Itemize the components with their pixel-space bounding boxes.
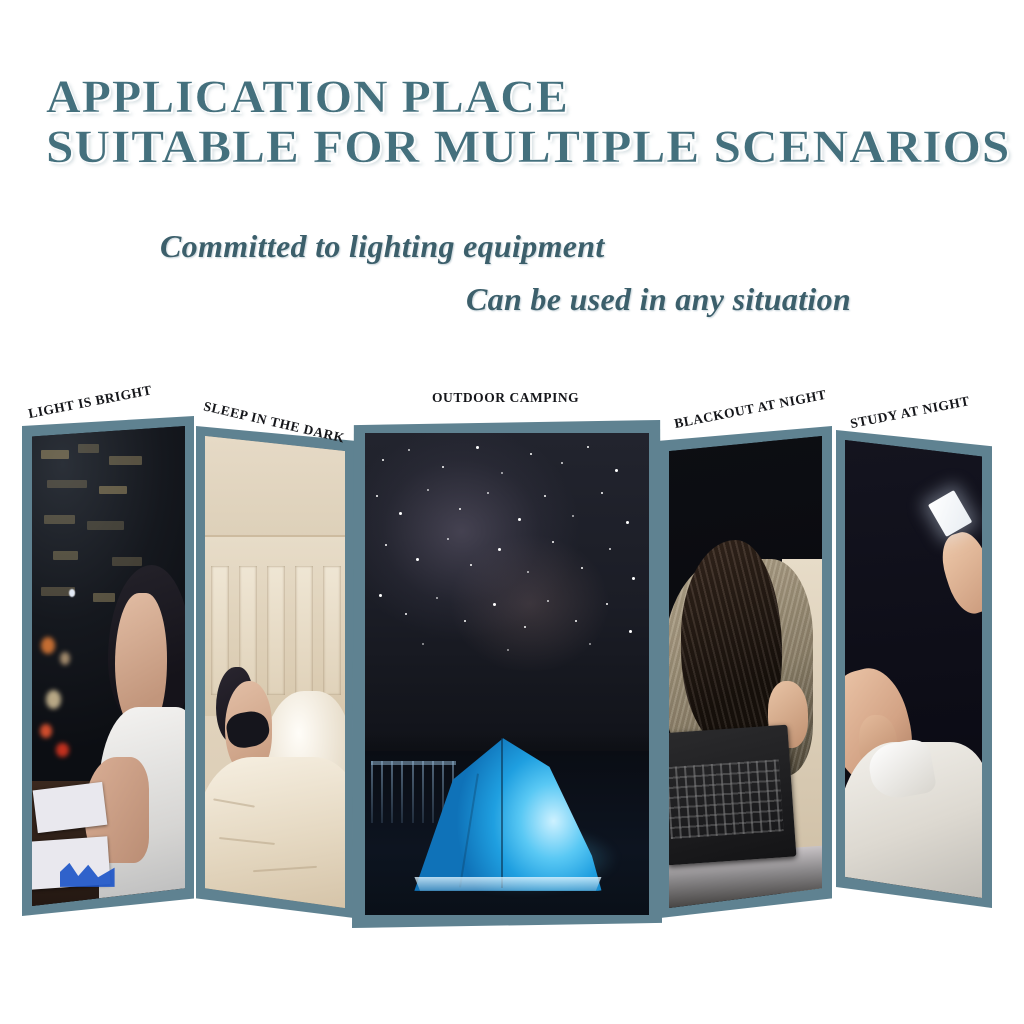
page-title: APPLICATION PLACE SUITABLE FOR MULTIPLE …: [46, 74, 1006, 170]
scenario-panel-outdoor-camping[interactable]: [352, 420, 662, 928]
scene-glowing-blue-tent-starry-sky: [365, 433, 649, 915]
panel-label-blackout-at-night: BLACKOUT AT NIGHT: [673, 387, 828, 432]
scene-person-sleeping-in-bed: [205, 436, 345, 908]
subtitle-line-2: Can be used in any situation: [466, 281, 1024, 318]
glowing-tent-icon: [410, 732, 603, 891]
panel-photo-outdoor-camping: [365, 433, 649, 915]
folding-screen-panel-group: LIGHT IS BRIGHT: [0, 384, 1024, 964]
poster-canvas: APPLICATION PLACE SUITABLE FOR MULTIPLE …: [0, 0, 1024, 1024]
panel-photo-blackout-at-night: [669, 436, 822, 908]
laptop-icon: [669, 724, 796, 865]
scene-woman-at-desk-night-city: [32, 426, 185, 906]
scene-person-lying-down-with-light: [845, 440, 982, 898]
panel-label-light-is-bright: LIGHT IS BRIGHT: [27, 382, 153, 422]
scenario-panel-blackout-at-night[interactable]: [660, 426, 832, 918]
scene-person-slumped-over-laptop: [669, 436, 822, 908]
title-line-2: SUITABLE FOR MULTIPLE SCENARIOS: [46, 124, 1024, 171]
scenario-panel-light-is-bright[interactable]: [22, 416, 194, 916]
panel-photo-sleep-in-the-dark: [205, 436, 345, 908]
scenario-panel-study-at-night[interactable]: [836, 430, 992, 908]
subtitle-line-1: Committed to lighting equipment: [160, 228, 1024, 265]
panel-photo-light-is-bright: [32, 426, 185, 906]
title-line-1: APPLICATION PLACE: [46, 74, 1024, 121]
panel-photo-study-at-night: [845, 440, 982, 898]
subtitle-group: Committed to lighting equipment Can be u…: [0, 228, 1024, 318]
milky-way-sky: [365, 433, 649, 761]
scenario-panel-sleep-in-the-dark[interactable]: [196, 426, 354, 918]
panel-label-outdoor-camping: OUTDOOR CAMPING: [432, 390, 579, 406]
panel-label-study-at-night: STUDY AT NIGHT: [849, 393, 971, 432]
